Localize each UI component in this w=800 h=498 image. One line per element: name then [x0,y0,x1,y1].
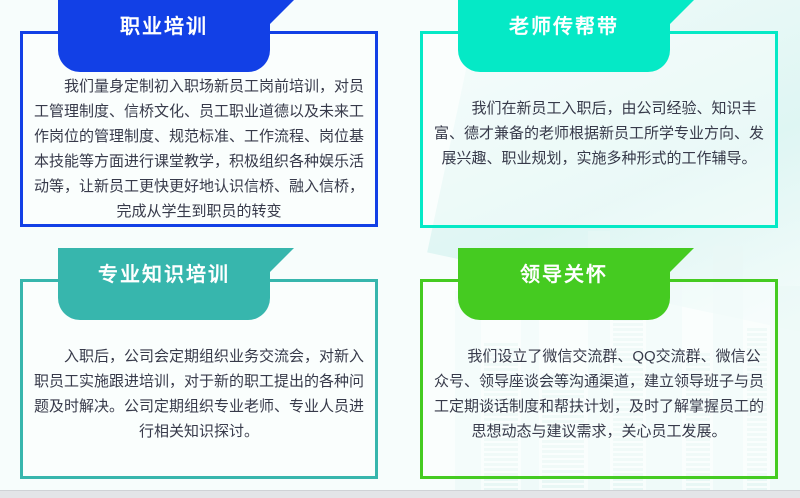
folded-corner-icon [270,0,294,24]
card-body-text: 我们在新员工入职后，由公司经验、知识丰富、德才兼备的老师根据新员工所学专业方向、… [432,96,766,171]
window-bottom-strip [0,490,800,498]
folded-corner-icon [670,248,694,272]
card-body-text: 我们设立了微信交流群、QQ交流群、微信公众号、领导座谈会等沟通渠道，建立领导班子… [432,344,766,444]
slide-canvas: 职业培训 我们量身定制初入职场新员工岗前培训，对员工管理制度、信桥文化、员工职业… [0,0,800,498]
card-body-text: 我们量身定制初入职场新员工岗前培训，对员工管理制度、信桥文化、员工职业道德以及未… [32,74,366,224]
folded-corner-icon [270,248,294,272]
card-title: 专业知识培训 [98,265,230,285]
card-body-text: 入职后，公司会定期组织业务交流会，对新入职员工实施跟进培训，对于新的职工提出的各… [32,344,366,444]
folded-corner-icon [670,0,694,24]
card-title: 职业培训 [120,17,208,37]
card-title-banner[interactable]: 领导关怀 [458,248,670,320]
card-title: 领导关怀 [520,265,608,285]
card-title-banner[interactable]: 老师传帮带 [458,0,670,72]
card-title: 老师传帮带 [509,17,619,37]
card-title-banner[interactable]: 职业培训 [58,0,270,72]
card-title-banner[interactable]: 专业知识培训 [58,248,270,320]
